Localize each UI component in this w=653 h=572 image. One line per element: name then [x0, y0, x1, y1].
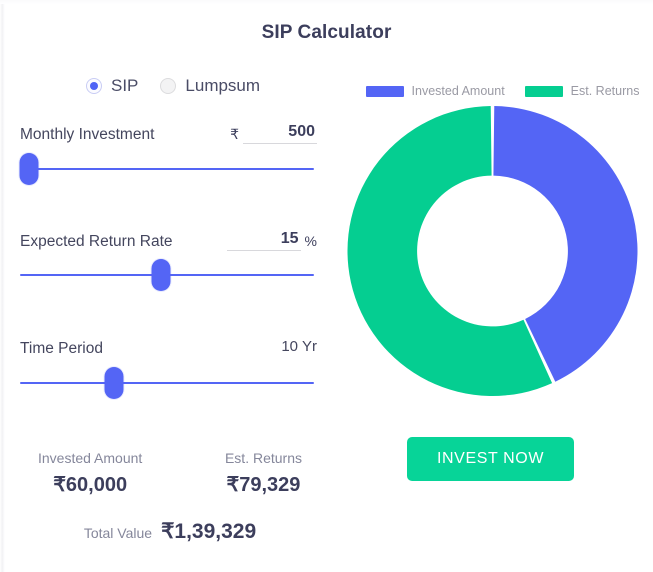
results-summary: Invested Amount ₹60,000 Est. Returns ₹79… [20, 450, 320, 544]
donut-chart [345, 105, 640, 397]
field-expected-return-rate-label: Expected Return Rate [20, 233, 173, 251]
monthly-investment-slider-thumb[interactable] [19, 153, 38, 185]
year-unit-label: Yr [302, 337, 317, 358]
expected-return-rate-input[interactable]: 15 [227, 229, 301, 251]
result-total-value: Total Value ₹1,39,329 [20, 519, 320, 544]
time-period-value[interactable]: 10 [281, 337, 298, 358]
result-invested-amount: Invested Amount ₹60,000 [38, 450, 142, 497]
sip-calculator-card: SIP Calculator SIP Lumpsum Monthly Inves… [0, 0, 653, 572]
donut-chart-svg [345, 105, 640, 397]
time-period-slider-thumb[interactable] [105, 367, 124, 399]
monthly-investment-input[interactable]: 500 [243, 122, 317, 144]
field-expected-return-rate-head: Expected Return Rate 15 % [20, 227, 317, 251]
field-expected-return-rate-value-group: 15 % [227, 229, 317, 251]
field-time-period-head: Time Period 10 Yr [20, 334, 317, 358]
expected-return-rate-slider-thumb[interactable] [152, 259, 171, 291]
percent-symbol-icon: % [305, 232, 317, 251]
field-expected-return-rate: Expected Return Rate 15 % [20, 227, 317, 251]
legend-swatch-invested-icon [366, 86, 404, 97]
result-invested-value: ₹60,000 [38, 472, 142, 497]
result-total-label: Total Value [84, 525, 152, 541]
rupee-symbol-icon: ₹ [230, 125, 239, 144]
legend-swatch-returns-icon [525, 86, 563, 97]
field-time-period: Time Period 10 Yr [20, 334, 317, 358]
field-time-period-label: Time Period [20, 340, 103, 358]
field-time-period-value-group: 10 Yr [281, 337, 317, 358]
result-est-returns: Est. Returns ₹79,329 [225, 450, 302, 497]
time-period-slider[interactable] [20, 366, 314, 400]
field-monthly-investment-label: Monthly Investment [20, 126, 154, 144]
result-returns-value: ₹79,329 [225, 472, 302, 497]
chart-legend: Invested Amount Est. Returns [360, 84, 645, 98]
monthly-investment-slider[interactable] [20, 152, 314, 186]
result-total-amount: ₹1,39,329 [161, 519, 256, 544]
legend-label-invested: Invested Amount [412, 84, 505, 98]
expected-return-rate-slider[interactable] [20, 258, 314, 292]
field-monthly-investment-head: Monthly Investment ₹ 500 [20, 120, 317, 144]
monthly-investment-slider-track[interactable] [20, 168, 314, 170]
legend-item-returns[interactable]: Est. Returns [525, 84, 640, 98]
time-period-slider-track[interactable] [20, 382, 314, 384]
results-row: Invested Amount ₹60,000 Est. Returns ₹79… [20, 450, 320, 497]
field-monthly-investment-value-group: ₹ 500 [230, 122, 317, 144]
legend-label-returns: Est. Returns [571, 84, 640, 98]
legend-item-invested[interactable]: Invested Amount [366, 84, 505, 98]
field-monthly-investment: Monthly Investment ₹ 500 [20, 120, 317, 144]
result-invested-label: Invested Amount [38, 450, 142, 466]
calculator-form: Monthly Investment ₹ 500 Expected Return… [0, 0, 340, 572]
invest-now-button[interactable]: INVEST NOW [407, 437, 574, 481]
result-returns-label: Est. Returns [225, 450, 302, 466]
